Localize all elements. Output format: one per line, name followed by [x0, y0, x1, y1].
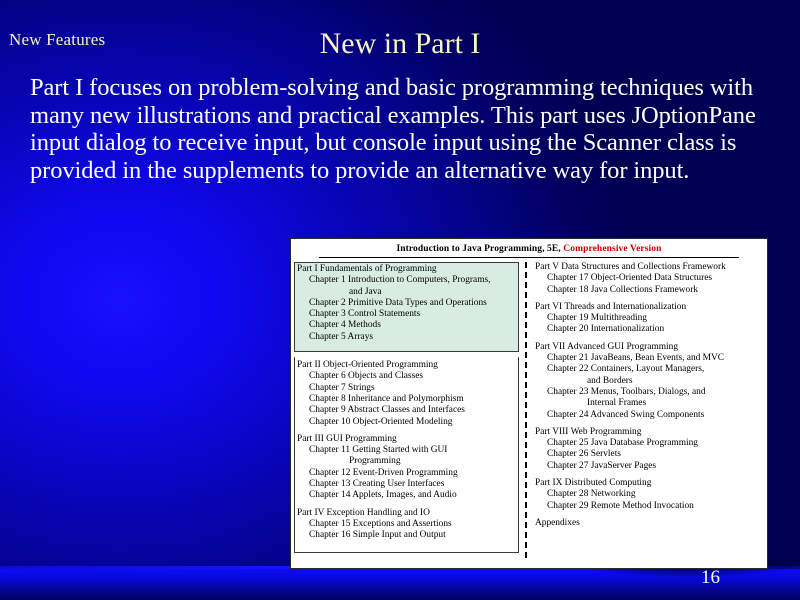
toc-chapter-entry: Chapter 18 Java Collections Framework: [535, 285, 767, 296]
slide-eyebrow-label: New Features: [9, 30, 105, 50]
toc-part-title: Part VI Threads and Internationalization: [535, 302, 767, 313]
toc-chapter-entry: Chapter 8 Inheritance and Polymorphism: [297, 394, 516, 405]
toc-chapter-entry: Chapter 11 Getting Started with GUI: [297, 445, 516, 456]
toc-part-block: Part I Fundamentals of ProgrammingChapte…: [297, 264, 516, 343]
toc-chapter-entry: Chapter 9 Abstract Classes and Interface…: [297, 405, 516, 416]
toc-part-title: Part VII Advanced GUI Programming: [535, 342, 767, 353]
toc-chapter-entry: Chapter 19 Multithreading: [535, 313, 767, 324]
toc-chapter-entry: Chapter 4 Methods: [297, 320, 516, 331]
toc-chapter-entry: Chapter 28 Networking: [535, 489, 767, 500]
toc-chapter-entry: Chapter 7 Strings: [297, 383, 516, 394]
toc-part-block: Part III GUI ProgrammingChapter 11 Getti…: [297, 434, 516, 502]
toc-part-title: Appendixes: [535, 518, 767, 529]
toc-header: Introduction to Java Programming, 5E, Co…: [291, 239, 767, 254]
toc-image-panel: Introduction to Java Programming, 5E, Co…: [290, 238, 768, 569]
toc-chapter-entry: Chapter 2 Primitive Data Types and Opera…: [297, 298, 516, 309]
toc-chapter-entry: Chapter 5 Arrays: [297, 332, 516, 343]
toc-chapter-entry: Chapter 10 Object-Oriented Modeling: [297, 417, 516, 428]
toc-chapter-entry: Chapter 16 Simple Input and Output: [297, 530, 516, 541]
toc-chapter-entry: Chapter 1 Introduction to Computers, Pro…: [297, 275, 516, 286]
toc-part-block: Part VIII Web ProgrammingChapter 25 Java…: [535, 427, 767, 472]
toc-header-main: Introduction to Java Programming, 5E,: [396, 244, 560, 254]
toc-right-column: Part V Data Structures and Collections F…: [533, 262, 767, 562]
toc-part-block: Part IV Exception Handling and IOChapter…: [297, 508, 516, 542]
toc-chapter-entry: Chapter 17 Object-Oriented Data Structur…: [535, 273, 767, 284]
toc-part-title: Part V Data Structures and Collections F…: [535, 262, 767, 273]
toc-chapter-entry: Chapter 21 JavaBeans, Bean Events, and M…: [535, 353, 767, 364]
toc-column-divider: [525, 262, 527, 558]
toc-chapter-entry: Chapter 26 Servlets: [535, 449, 767, 460]
toc-chapter-entry: and Java: [297, 287, 516, 298]
toc-part-title: Part IV Exception Handling and IO: [297, 508, 516, 519]
toc-chapter-entry: Chapter 3 Control Statements: [297, 309, 516, 320]
slide-body-paragraph: Part I focuses on problem-solving and ba…: [30, 74, 775, 184]
toc-header-accent: Comprehensive Version: [563, 244, 661, 254]
toc-chapter-entry: Chapter 25 Java Database Programming: [535, 438, 767, 449]
toc-chapter-entry: Chapter 12 Event-Driven Programming: [297, 468, 516, 479]
toc-chapter-entry: Chapter 6 Objects and Classes: [297, 371, 516, 382]
toc-left-lower-group: Part II Object-Oriented ProgrammingChapt…: [294, 357, 519, 553]
page-title: New in Part I: [215, 27, 585, 61]
toc-chapter-entry: Chapter 23 Menus, Toolbars, Dialogs, and: [535, 387, 767, 398]
toc-part-block: Part IX Distributed ComputingChapter 28 …: [535, 478, 767, 512]
toc-chapter-entry: Chapter 24 Advanced Swing Components: [535, 410, 767, 421]
toc-chapter-entry: Chapter 20 Internationalization: [535, 324, 767, 335]
toc-part-block: Part VI Threads and Internationalization…: [535, 302, 767, 336]
toc-chapter-entry: Chapter 29 Remote Method Invocation: [535, 501, 767, 512]
toc-part-block: Part VII Advanced GUI ProgrammingChapter…: [535, 342, 767, 421]
toc-part-block: Part II Object-Oriented ProgrammingChapt…: [297, 360, 516, 428]
toc-left-column: Part I Fundamentals of ProgrammingChapte…: [291, 262, 523, 562]
toc-chapter-entry: Programming: [297, 456, 516, 467]
toc-part-block: Appendixes: [535, 518, 767, 529]
toc-columns: Part I Fundamentals of ProgrammingChapte…: [291, 262, 767, 562]
toc-chapter-entry: Internal Frames: [535, 398, 767, 409]
toc-part-title: Part II Object-Oriented Programming: [297, 360, 516, 371]
toc-chapter-entry: Chapter 14 Applets, Images, and Audio: [297, 490, 516, 501]
toc-header-rule: [319, 257, 739, 258]
toc-part-title: Part IX Distributed Computing: [535, 478, 767, 489]
toc-part-title: Part III GUI Programming: [297, 434, 516, 445]
toc-chapter-entry: Chapter 13 Creating User Interfaces: [297, 479, 516, 490]
slide-number: 16: [701, 567, 720, 589]
presentation-slide: New Features New in Part I Part I focuse…: [0, 0, 800, 600]
toc-chapter-entry: Chapter 22 Containers, Layout Managers,: [535, 364, 767, 375]
toc-part-title: Part I Fundamentals of Programming: [297, 264, 516, 275]
toc-part-block-highlighted: Part I Fundamentals of ProgrammingChapte…: [294, 262, 519, 352]
toc-chapter-entry: Chapter 15 Exceptions and Assertions: [297, 519, 516, 530]
toc-part-title: Part VIII Web Programming: [535, 427, 767, 438]
toc-chapter-entry: Chapter 27 JavaServer Pages: [535, 461, 767, 472]
toc-part-block: Part V Data Structures and Collections F…: [535, 262, 767, 296]
toc-chapter-entry: and Borders: [535, 376, 767, 387]
